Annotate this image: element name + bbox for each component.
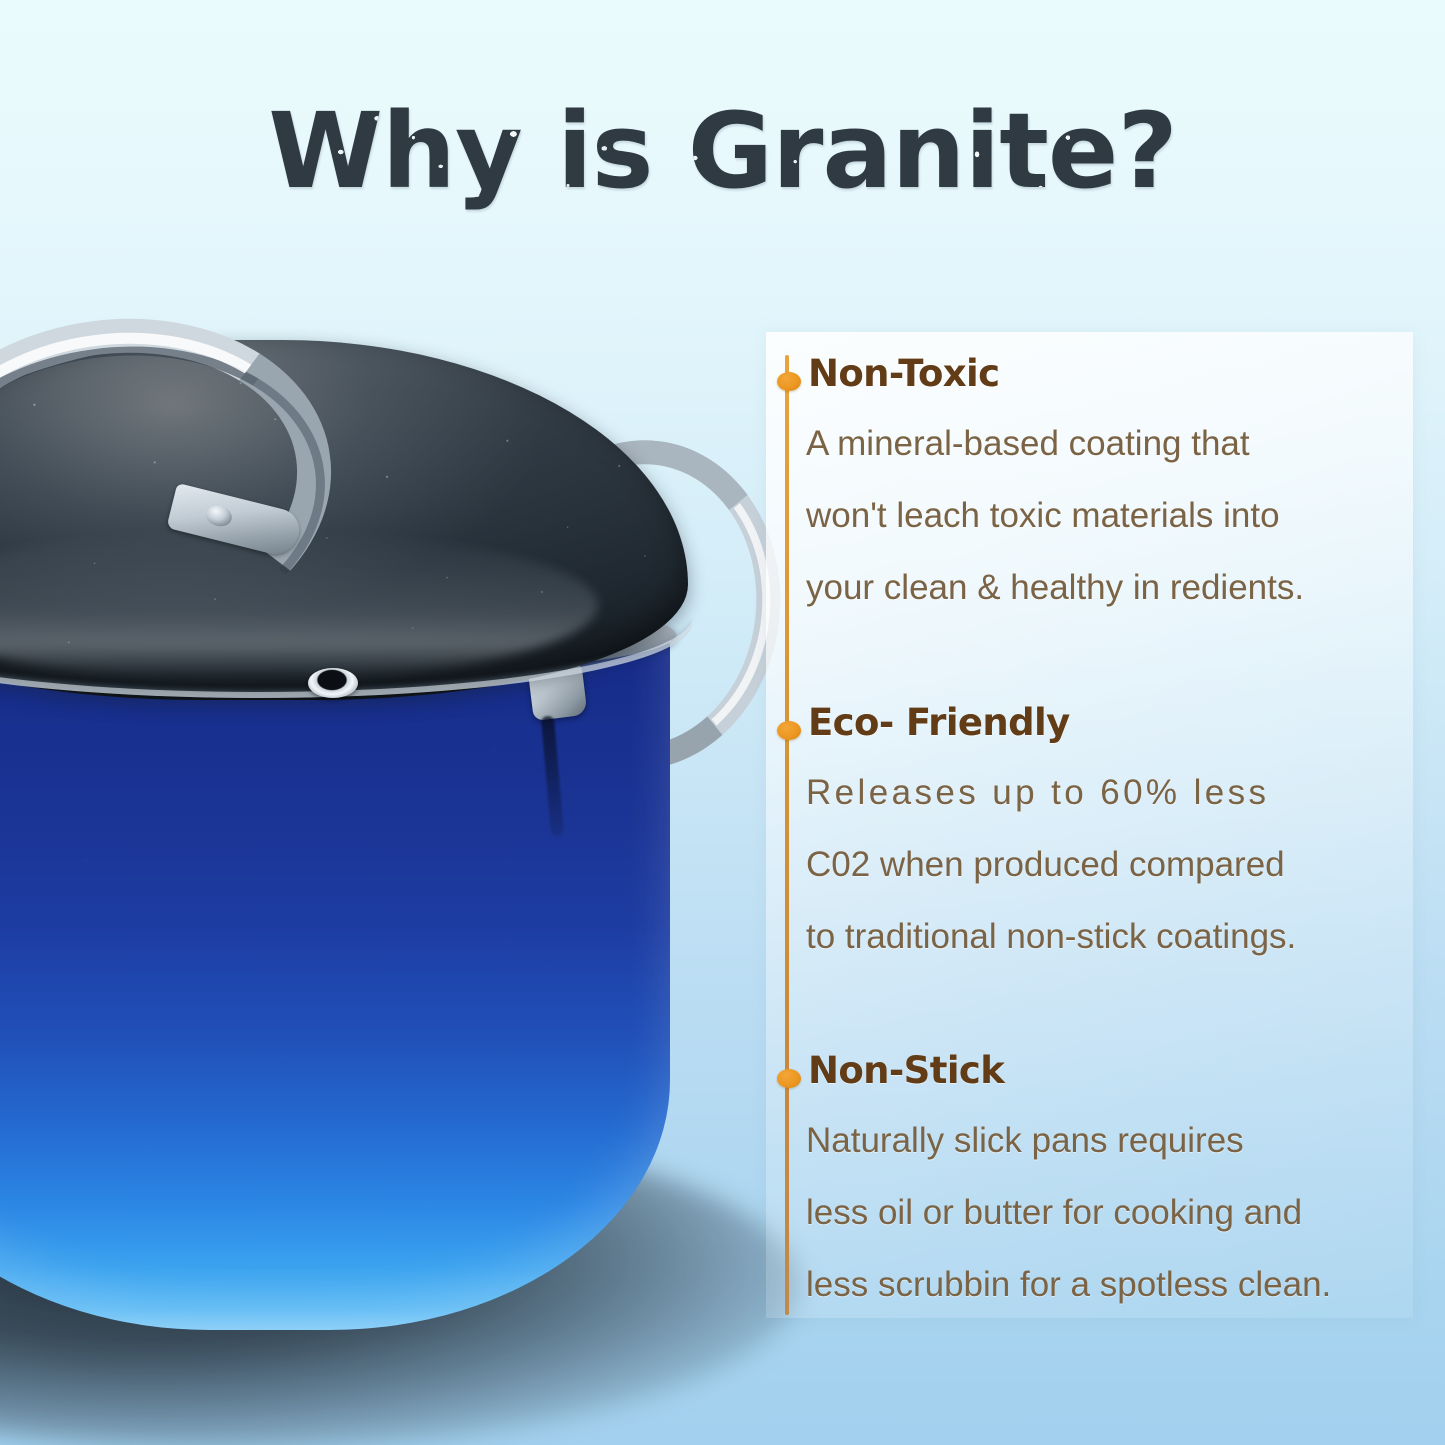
pot-body (0, 630, 670, 1330)
feature-body-line: less scrubbin for a spotless clean. (806, 1249, 1406, 1321)
feature-body: Naturally slick pans requires less oil o… (806, 1105, 1406, 1321)
bullet-dot-icon (777, 721, 801, 740)
feature-body-line: A mineral-based coating that (806, 408, 1406, 480)
feature-heading: Non-Toxic (808, 352, 999, 395)
bullet-dot-icon (777, 1069, 801, 1088)
feature-body: Releases up to 60% less C02 when produce… (806, 757, 1406, 973)
timeline-divider (785, 355, 789, 1315)
feature-heading: Eco- Friendly (808, 701, 1070, 744)
steam-vent-icon (308, 668, 358, 698)
feature-body: A mineral-based coating that won't leach… (806, 408, 1406, 624)
infographic-canvas: Why is Granite? Non-Toxic A mineral (0, 0, 1445, 1445)
feature-body-line: less oil or butter for cooking and (806, 1177, 1406, 1249)
feature-body-line: Naturally slick pans requires (806, 1105, 1406, 1177)
page-title: Why is Granite? (268, 92, 1177, 212)
feature-body-line: your clean & healthy in redients. (806, 552, 1406, 624)
feature-body-line: won't leach toxic materials into (806, 480, 1406, 552)
feature-body-line: to traditional non-stick coatings. (806, 901, 1406, 973)
feature-body-line: C02 when produced compared (806, 829, 1406, 901)
bullet-dot-icon (777, 372, 801, 391)
feature-body-line: Releases up to 60% less (806, 757, 1406, 829)
feature-heading: Non-Stick (808, 1049, 1004, 1092)
product-image (0, 330, 810, 1445)
page-title-container: Why is Granite? (0, 92, 1445, 212)
